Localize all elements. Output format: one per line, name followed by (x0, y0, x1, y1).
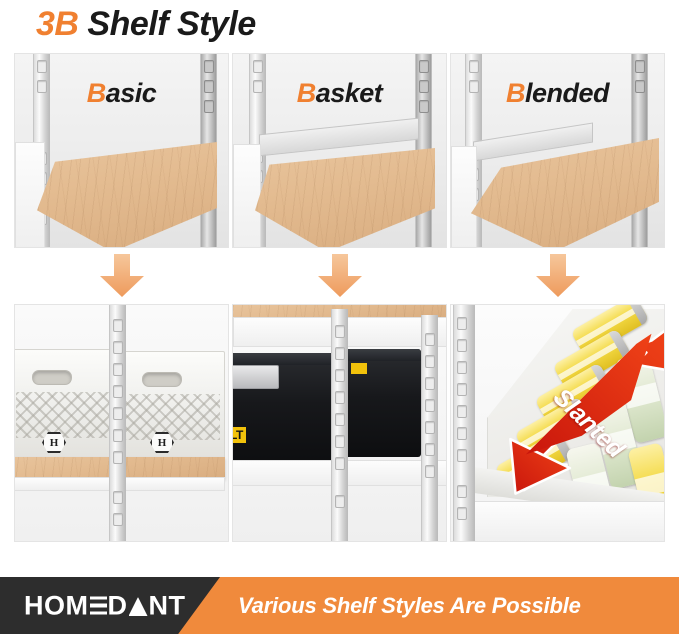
column-blended: Blended (450, 53, 665, 542)
tool-box-latch (351, 363, 367, 374)
shelf-post-left (453, 305, 475, 542)
panel-label-basket: Basket (233, 78, 446, 109)
shelf-back-face (451, 146, 477, 248)
arrow-row-basic (14, 248, 229, 304)
panel-blended-bottom[interactable]: Slanted (450, 304, 665, 542)
shelf-style-grid: Basic H (14, 53, 665, 542)
down-arrow-icon (317, 254, 363, 298)
brand-e-glyph-icon (90, 596, 107, 615)
page-title: 3B Shelf Style (36, 2, 256, 46)
column-basic: Basic H (14, 53, 229, 542)
page-title-text: 3B Shelf Style (36, 5, 256, 44)
footer-bar: HOM D NT Various Shelf Styles Are Possib… (0, 577, 679, 634)
brand-part-1: HOM (24, 590, 89, 621)
shelf-post-right (421, 315, 438, 542)
tool-box-badge: LT (232, 427, 246, 443)
shelf-post-center (331, 309, 348, 542)
page-title-rest: Shelf Style (78, 5, 255, 43)
metal-tray (232, 365, 279, 389)
slanted-cans-illustration: Slanted (451, 305, 664, 541)
storage-crate-right: H (119, 351, 225, 463)
tool-box-lid (343, 349, 421, 361)
page-title-accent: 3B (36, 5, 78, 43)
panel-label-blended: Blended (451, 78, 664, 109)
tool-box-rear (343, 349, 421, 457)
panel-basic-bottom[interactable]: H H (14, 304, 229, 542)
brand-part-3: NT (149, 590, 186, 621)
brand-a-delta-glyph-icon (129, 597, 148, 616)
arrow-row-blended (450, 248, 665, 304)
shelf-back-face (233, 144, 261, 248)
down-arrow-icon (99, 254, 145, 298)
toolbox-illustration: LT (233, 305, 446, 541)
panel-basic-top[interactable]: Basic (14, 53, 229, 248)
storage-crate-left: H (14, 349, 119, 464)
arrow-row-basket (232, 248, 447, 304)
shelf-post-center (109, 305, 126, 542)
panel-label-basic: Basic (15, 78, 228, 109)
footer-tagline: Various Shelf Styles Are Possible (238, 593, 581, 619)
shelf-lower-face (471, 501, 665, 542)
shelf-back-face (15, 142, 45, 248)
column-basket: Basket (232, 53, 447, 542)
brand-logo: HOM D NT (24, 590, 186, 621)
down-arrow-icon (535, 254, 581, 298)
panel-blended-top[interactable]: Blended (450, 53, 665, 248)
brand-part-2: D (108, 590, 128, 621)
panel-basket-top[interactable]: Basket (232, 53, 447, 248)
tool-box-lid (232, 353, 337, 365)
panel-basket-bottom[interactable]: LT (232, 304, 447, 542)
crate-illustration: H H (15, 305, 228, 541)
